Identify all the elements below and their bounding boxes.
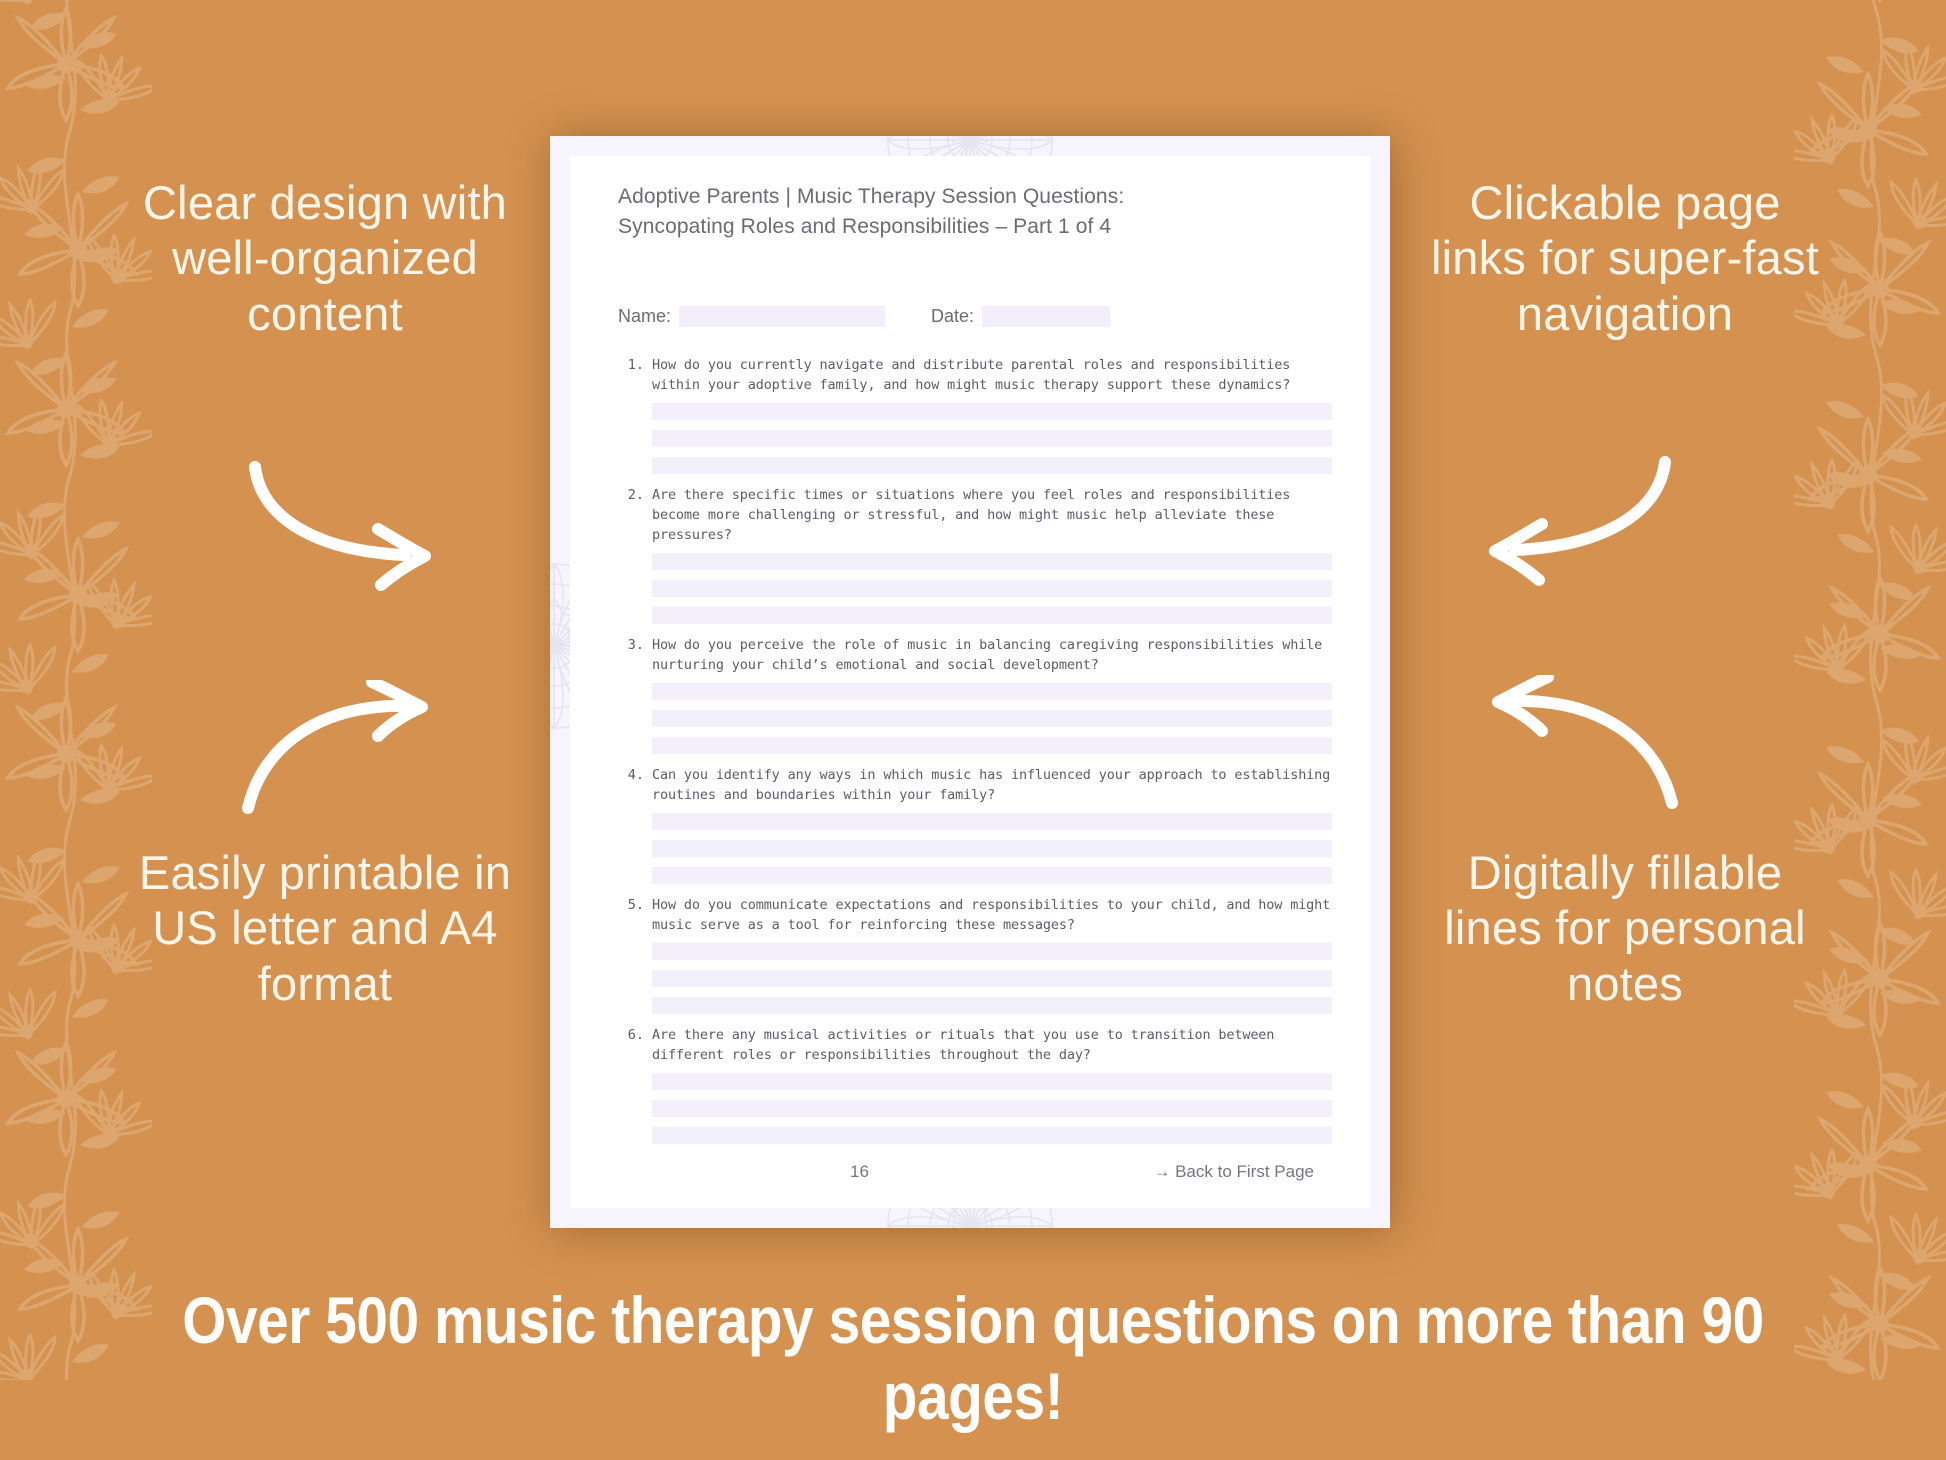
question-text: How do you currently navigate and distri… — [652, 356, 1332, 396]
question-text: Are there specific times or situations w… — [652, 486, 1332, 546]
footer-page-number: 16 — [850, 1162, 869, 1182]
answer-line[interactable] — [652, 553, 1332, 570]
answer-line[interactable] — [652, 683, 1332, 700]
question-item: 1.How do you currently navigate and dist… — [618, 356, 1332, 474]
page-title-line2: Syncopating Roles and Responsibilities –… — [618, 212, 1328, 242]
document-sheet: Adoptive Parents | Music Therapy Session… — [570, 156, 1370, 1208]
question-number: 6. — [618, 1026, 652, 1066]
question-row: 4.Can you identify any ways in which mus… — [618, 766, 1332, 806]
document-page: Adoptive Parents | Music Therapy Session… — [550, 136, 1390, 1228]
question-number: 2. — [618, 486, 652, 546]
answer-line[interactable] — [652, 840, 1332, 857]
question-number: 4. — [618, 766, 652, 806]
answer-line[interactable] — [652, 1073, 1332, 1090]
answer-line[interactable] — [652, 970, 1332, 987]
answer-line[interactable] — [652, 580, 1332, 597]
question-number: 1. — [618, 356, 652, 396]
question-row: 3.How do you perceive the role of music … — [618, 636, 1332, 676]
question-item: 4.Can you identify any ways in which mus… — [618, 766, 1332, 884]
curved-arrow-right-icon — [245, 455, 445, 595]
answer-lines — [652, 1073, 1332, 1144]
answer-lines — [652, 403, 1332, 474]
answer-line[interactable] — [652, 607, 1332, 624]
bottom-banner-text: Over 500 music therapy session questions… — [136, 1282, 1810, 1434]
page-title: Adoptive Parents | Music Therapy Session… — [618, 182, 1328, 242]
answer-line[interactable] — [652, 1100, 1332, 1117]
promo-text-easily-printable: Easily printable in US letter and A4 for… — [130, 845, 520, 1011]
question-number: 5. — [618, 896, 652, 936]
curved-arrow-left-icon — [1480, 675, 1680, 815]
answer-lines — [652, 683, 1332, 754]
answer-line[interactable] — [652, 867, 1332, 884]
answer-line[interactable] — [652, 997, 1332, 1014]
curved-arrow-right-icon — [240, 680, 440, 820]
name-date-row: Name: Date: — [618, 306, 1110, 327]
question-text: Can you identify any ways in which music… — [652, 766, 1332, 806]
question-text: Are there any musical activities or ritu… — [652, 1026, 1332, 1066]
promo-text-clickable-links: Clickable page links for super-fast navi… — [1430, 175, 1820, 341]
answer-lines — [652, 553, 1332, 624]
question-row: 5.How do you communicate expectations an… — [618, 896, 1332, 936]
answer-line[interactable] — [652, 403, 1332, 420]
promo-text-fillable-lines: Digitally fillable lines for personal no… — [1430, 845, 1820, 1011]
answer-line[interactable] — [652, 430, 1332, 447]
answer-lines — [652, 813, 1332, 884]
answer-line[interactable] — [652, 943, 1332, 960]
name-input[interactable] — [679, 306, 885, 327]
question-item: 6.Are there any musical activities or ri… — [618, 1026, 1332, 1144]
question-row: 1.How do you currently navigate and dist… — [618, 356, 1332, 396]
answer-line[interactable] — [652, 737, 1332, 754]
question-number: 3. — [618, 636, 652, 676]
question-text: How do you perceive the role of music in… — [652, 636, 1332, 676]
name-label: Name: — [618, 306, 671, 327]
question-item: 3.How do you perceive the role of music … — [618, 636, 1332, 754]
page-title-line1: Adoptive Parents | Music Therapy Session… — [618, 182, 1328, 212]
promo-text-clear-design: Clear design with well-organized content — [130, 175, 520, 341]
question-text: How do you communicate expectations and … — [652, 896, 1332, 936]
answer-line[interactable] — [652, 813, 1332, 830]
answer-line[interactable] — [652, 1127, 1332, 1144]
answer-lines — [652, 943, 1332, 1014]
question-row: 6.Are there any musical activities or ri… — [618, 1026, 1332, 1066]
question-item: 5.How do you communicate expectations an… — [618, 896, 1332, 1014]
question-item: 2.Are there specific times or situations… — [618, 486, 1332, 624]
curved-arrow-left-icon — [1475, 450, 1675, 590]
answer-line[interactable] — [652, 710, 1332, 727]
question-row: 2.Are there specific times or situations… — [618, 486, 1332, 546]
question-list: 1.How do you currently navigate and dist… — [618, 356, 1332, 1156]
answer-line[interactable] — [652, 457, 1332, 474]
back-to-first-page-link[interactable]: → Back to First Page — [1153, 1162, 1314, 1182]
date-label: Date: — [931, 306, 974, 327]
date-input[interactable] — [982, 306, 1110, 327]
